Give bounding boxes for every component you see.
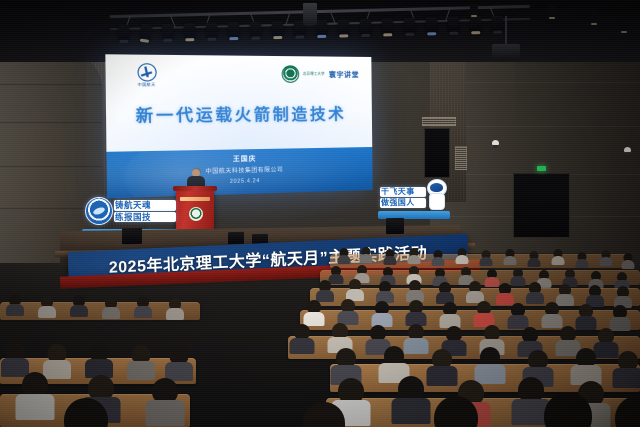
stage-light-icon bbox=[426, 17, 437, 34]
stage-light-icon bbox=[470, 16, 481, 33]
audience-member bbox=[378, 281, 392, 301]
hall-exit-door bbox=[513, 173, 570, 238]
audience-member bbox=[480, 250, 491, 264]
audience-member bbox=[438, 282, 452, 302]
casc-mark-icon bbox=[137, 63, 156, 81]
auditorium-lecture-photo: 中国航天 北京理工大学 寰宇讲堂 新一代运载火箭制造技术 王国庆 中国航天科技集… bbox=[0, 0, 640, 427]
audience-member bbox=[544, 302, 560, 325]
stage-monitor-speaker-icon bbox=[122, 228, 142, 244]
audience-member-foreground bbox=[612, 396, 640, 427]
slide-title: 新一代运载火箭制造技术 bbox=[106, 102, 372, 127]
audience-member bbox=[306, 300, 322, 323]
audience-member bbox=[374, 301, 390, 324]
lecture-series-title: 寰宇讲堂 bbox=[329, 70, 359, 80]
audience-member bbox=[456, 248, 467, 262]
audience-member bbox=[578, 304, 594, 327]
audience-member bbox=[382, 346, 406, 380]
audience-member bbox=[442, 302, 458, 325]
audience-member bbox=[612, 305, 628, 328]
stage-light-icon bbox=[492, 16, 503, 33]
audience-member bbox=[104, 297, 118, 317]
audience-member bbox=[8, 294, 22, 314]
stage-light-icon bbox=[206, 23, 217, 40]
audience-member bbox=[574, 348, 598, 382]
security-camera-icon bbox=[624, 147, 631, 153]
exit-sign-icon bbox=[537, 166, 546, 171]
audience-member-foreground bbox=[430, 396, 482, 427]
projection-screen: 中国航天 北京理工大学 寰宇讲堂 新一代运载火箭制造技术 王国庆 中国航天科技集… bbox=[105, 54, 372, 198]
bit-university-text: 北京理工大学 bbox=[303, 73, 325, 77]
audience-member bbox=[168, 346, 190, 378]
standee-left-line1: 铸航天魂 bbox=[114, 200, 176, 211]
audience-member bbox=[330, 323, 349, 350]
audience-member bbox=[528, 251, 539, 265]
audience-member bbox=[430, 349, 454, 383]
ceiling-equipment-box bbox=[303, 3, 317, 25]
audience-member bbox=[72, 295, 86, 315]
stage-light-icon bbox=[184, 23, 195, 40]
stage-light-icon bbox=[620, 20, 628, 32]
audience-member bbox=[318, 280, 332, 300]
audience-member bbox=[616, 286, 630, 306]
stage-light-icon bbox=[470, 4, 478, 16]
audience-member-foreground bbox=[540, 392, 596, 427]
host-logo-group: 北京理工大学 寰宇讲堂 bbox=[281, 66, 359, 84]
hanging-speaker-box bbox=[492, 44, 520, 60]
audience-member bbox=[406, 324, 425, 351]
audience-member bbox=[408, 300, 424, 323]
stage-light-icon bbox=[118, 25, 129, 42]
audience-member bbox=[338, 248, 349, 262]
audience-member-foreground bbox=[300, 402, 348, 427]
stage-light-icon bbox=[382, 18, 393, 35]
audience-member bbox=[384, 249, 395, 263]
stage-light-icon bbox=[338, 19, 349, 36]
university-crest-icon bbox=[189, 207, 203, 221]
audience-member bbox=[616, 351, 640, 385]
stage-light-icon bbox=[316, 20, 327, 37]
stage-light-icon bbox=[250, 21, 261, 38]
standee-right-line2: 做强国人 bbox=[380, 198, 426, 208]
podium-university-text bbox=[180, 197, 210, 201]
stage-light-icon bbox=[448, 17, 459, 34]
audience-member bbox=[292, 324, 311, 351]
audience-member bbox=[408, 248, 419, 262]
security-camera-icon bbox=[492, 140, 499, 146]
audience-member bbox=[564, 269, 576, 285]
stage-light-icon bbox=[162, 24, 173, 41]
stage-light-icon bbox=[360, 19, 371, 36]
aerospace-emblem-icon bbox=[85, 197, 113, 225]
casc-logo-text: 中国航天 bbox=[123, 82, 170, 87]
audience-member bbox=[596, 328, 615, 355]
wall-vent-right bbox=[455, 146, 467, 170]
audience-member bbox=[130, 345, 152, 377]
audience-member bbox=[486, 269, 498, 285]
stage-monitor-speaker-icon bbox=[386, 218, 404, 234]
audience-member bbox=[360, 247, 371, 261]
audience-member bbox=[88, 343, 110, 375]
audience-member bbox=[468, 281, 482, 301]
audience-member-foreground bbox=[60, 398, 112, 427]
audience-member bbox=[348, 279, 362, 299]
audience-member bbox=[4, 342, 26, 374]
audience-member bbox=[622, 253, 633, 267]
stage-light-icon bbox=[139, 24, 152, 42]
stage-light-icon bbox=[228, 22, 239, 39]
audience-member bbox=[558, 284, 572, 304]
audience-member bbox=[552, 249, 563, 263]
stage-light-icon bbox=[548, 6, 556, 18]
audience-member bbox=[150, 378, 180, 422]
audience-member bbox=[478, 347, 502, 381]
audience-member bbox=[576, 252, 587, 266]
casc-logo: 中国航天 bbox=[123, 63, 171, 88]
audience-member bbox=[510, 303, 526, 326]
audience-member bbox=[396, 376, 426, 420]
stage-light-icon bbox=[404, 18, 415, 35]
audience-member bbox=[340, 299, 356, 322]
audience-member bbox=[334, 348, 358, 382]
audience-member bbox=[476, 301, 492, 324]
astronaut-icon bbox=[424, 179, 448, 209]
bit-emblem-icon bbox=[281, 66, 299, 84]
wall-vent bbox=[422, 117, 456, 126]
standee-right-line1: 干飞天事 bbox=[380, 187, 426, 197]
audience-member bbox=[588, 285, 602, 305]
stage-light-icon bbox=[272, 21, 283, 38]
audience-member bbox=[498, 283, 512, 303]
audience-member bbox=[136, 296, 150, 316]
standee-right: 干飞天事 做强国人 bbox=[378, 175, 450, 219]
stage-monitor-speaker-icon bbox=[228, 232, 244, 244]
stage-side-door bbox=[424, 128, 450, 178]
audience-member bbox=[40, 296, 54, 316]
audience-area bbox=[0, 246, 640, 427]
audience-member bbox=[168, 298, 182, 318]
stage-light-icon bbox=[590, 12, 598, 24]
audience-member bbox=[20, 372, 50, 416]
audience-member bbox=[528, 282, 542, 302]
hanging-rod bbox=[505, 16, 507, 46]
audience-member bbox=[408, 280, 422, 300]
audience-member bbox=[512, 268, 524, 284]
standee-left-line2: 练报国技 bbox=[114, 212, 176, 223]
audience-member bbox=[504, 249, 515, 263]
audience-member bbox=[432, 250, 443, 264]
audience-member bbox=[600, 250, 611, 264]
